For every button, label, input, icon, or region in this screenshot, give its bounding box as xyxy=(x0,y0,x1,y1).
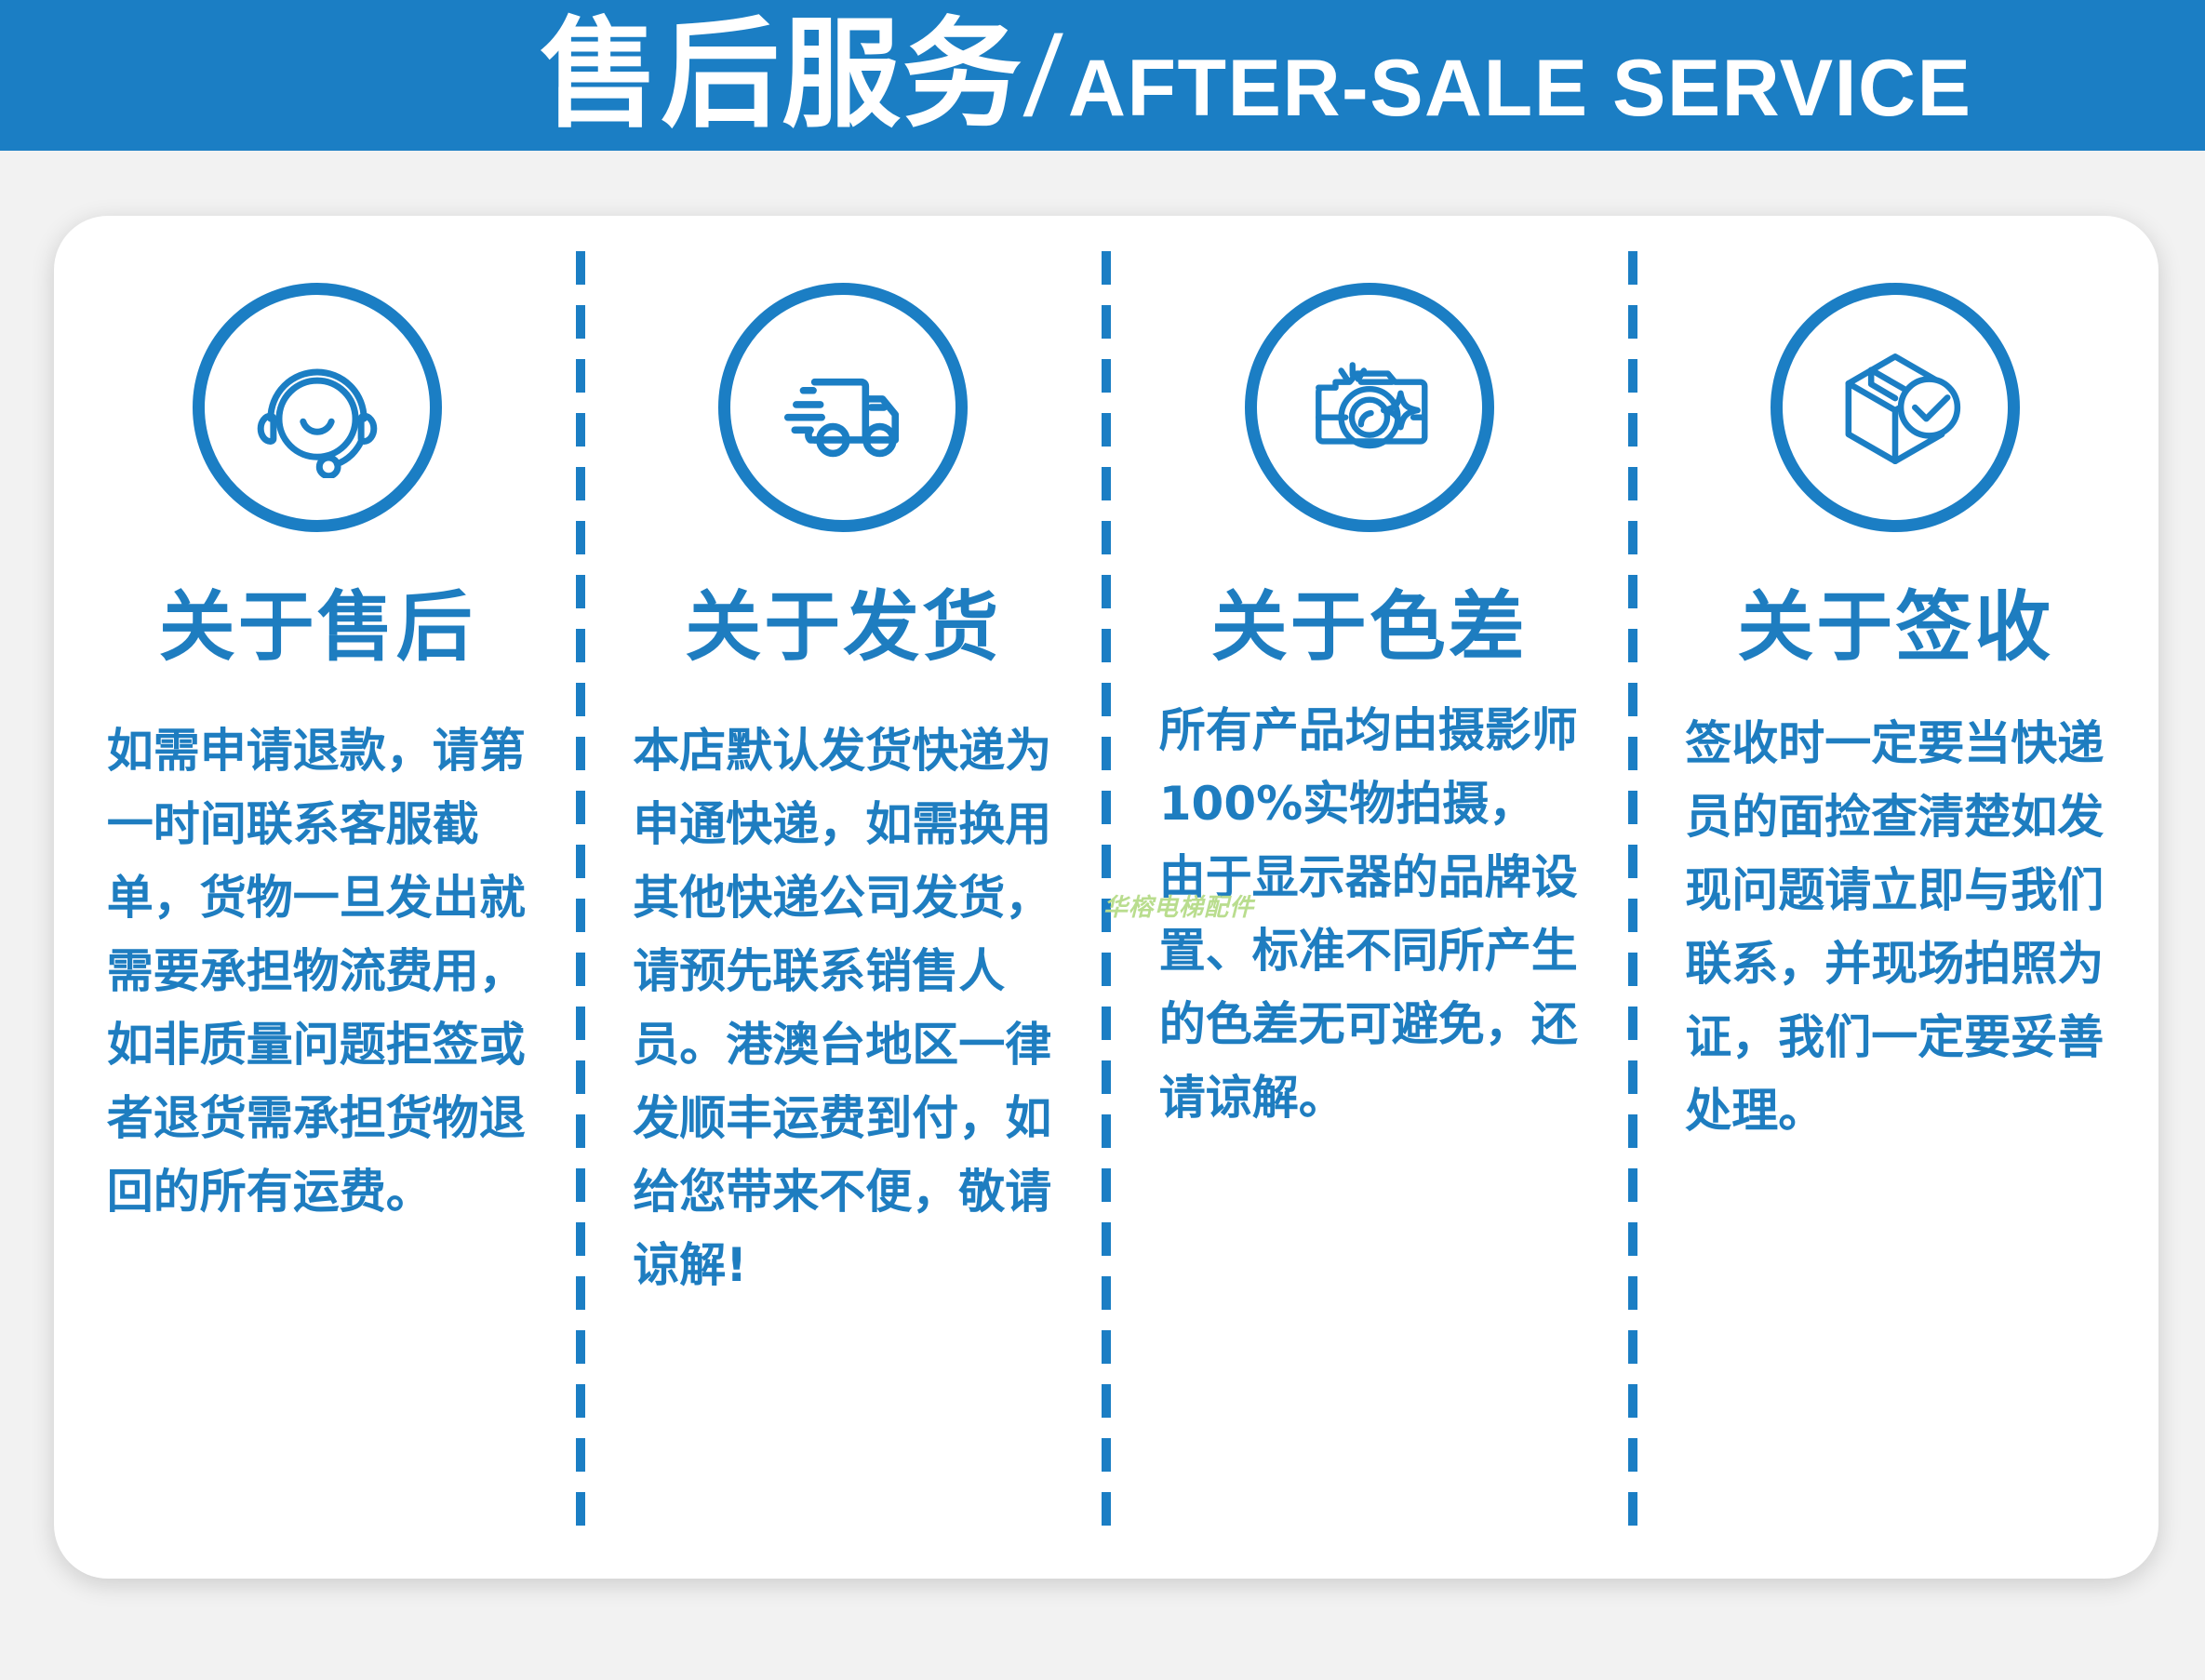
banner-title-english: AFTER-SALE SERVICE xyxy=(1068,48,1972,128)
column-title: 关于色差 xyxy=(1211,590,1528,666)
column-body-text: 本店默认发货快递为申通快递，如需换用其他快递公司发货，请预先联系销售人员。港澳台… xyxy=(633,714,1053,1302)
package-check-icon xyxy=(1771,283,2020,532)
delivery-truck-icon xyxy=(718,283,968,532)
column-body-text: 如需申请退款，请第一时间联系客服截单，货物一旦发出就需要承担物流费用，如非质量问… xyxy=(107,714,528,1229)
column-title: 关于售后 xyxy=(159,590,475,666)
column-body-text: 签收时一定要当快递员的面捡查清楚如发现问题请立即与我们联系，并现场拍照为证，我们… xyxy=(1685,707,2105,1148)
banner-title-chinese: 售后服务 xyxy=(540,16,1023,135)
header-banner: 售后服务 / AFTER-SALE SERVICE xyxy=(0,0,2205,151)
column-title: 关于发货 xyxy=(685,590,1001,666)
column-title: 关于签收 xyxy=(1737,590,2053,666)
banner-separator: / xyxy=(1022,20,1065,133)
column-body-text: 所有产品均由摄影师100%实物拍摄，由于显示器的品牌设置、标准不同所产生的色差无… xyxy=(1159,694,1580,1135)
header-banner-text: 售后服务 / AFTER-SALE SERVICE xyxy=(540,16,1971,135)
service-column-shipping: 关于发货 本店默认发货快递为申通快递，如需换用其他快递公司发货，请预先联系销售人… xyxy=(581,216,1107,1579)
camera-sparkle-icon xyxy=(1245,283,1494,532)
customer-service-headset-icon xyxy=(193,283,442,532)
service-columns: 关于售后 如需申请退款，请第一时间联系客服截单，货物一旦发出就需要承担物流费用，… xyxy=(54,216,2158,1579)
service-column-color-difference: 关于色差 所有产品均由摄影师100%实物拍摄，由于显示器的品牌设置、标准不同所产… xyxy=(1106,216,1633,1579)
service-column-after-sale: 关于售后 如需申请退款，请第一时间联系客服截单，货物一旦发出就需要承担物流费用，… xyxy=(54,216,581,1579)
service-column-receipt: 关于签收 签收时一定要当快递员的面捡查清楚如发现问题请立即与我们联系，并现场拍照… xyxy=(1633,216,2159,1579)
